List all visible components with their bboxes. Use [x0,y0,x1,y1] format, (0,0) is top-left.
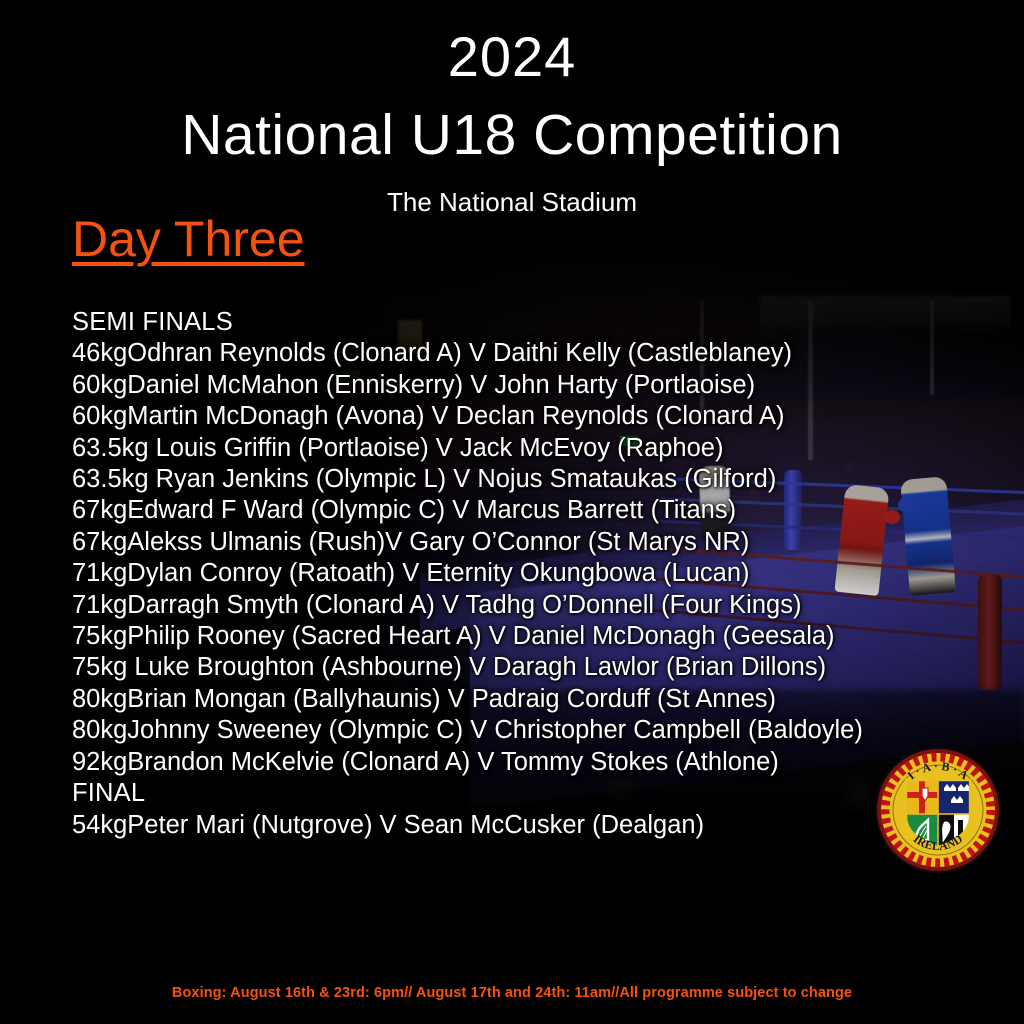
schedule-bout-row: 67kgAlekss Ulmanis (Rush)V Gary O’Connor… [72,527,972,558]
footer-note: Boxing: August 16th & 23rd: 6pm// August… [0,985,1024,1001]
schedule-bout-row: 63.5kg Ryan Jenkins (Olympic L) V Nojus … [72,464,972,495]
schedule-section-heading: SEMI FINALS [72,307,972,338]
schedule-bout-row: 63.5kg Louis Griffin (Portlaoise) V Jack… [72,433,972,464]
schedule-bout-row: 80kgBrian Mongan (Ballyhaunis) V Padraig… [72,684,972,715]
schedule-section-heading: FINAL [72,778,972,809]
schedule-bout-row: 92kgBrandon McKelvie (Clonard A) V Tommy… [72,747,972,778]
iaba-ireland-crest-logo: I · A · B · A IRELAND [874,746,1002,874]
poster-canvas: 2024 National U18 Competition The Nation… [0,0,1024,1024]
schedule-bout-row: 71kgDylan Conroy (Ratoath) V Eternity Ok… [72,558,972,589]
schedule-bout-row: 75kg Luke Broughton (Ashbourne) V Daragh… [72,652,972,683]
year-heading: 2024 [0,26,1024,89]
schedule-bout-row: 54kgPeter Mari (Nutgrove) V Sean McCuske… [72,810,972,841]
page-title: National U18 Competition [0,101,1024,169]
schedule-bout-row: 80kgJohnny Sweeney (Olympic C) V Christo… [72,715,972,746]
schedule-bout-row: 60kgMartin McDonagh (Avona) V Declan Rey… [72,401,972,432]
schedule-list: SEMI FINALS46kgOdhran Reynolds (Clonard … [72,307,972,841]
schedule-bout-row: 60kgDaniel McMahon (Enniskerry) V John H… [72,370,972,401]
schedule-bout-row: 67kgEdward F Ward (Olympic C) V Marcus B… [72,495,972,526]
schedule-bout-row: 46kgOdhran Reynolds (Clonard A) V Daithi… [72,338,972,369]
poster-content: 2024 National U18 Competition The Nation… [0,0,1024,1024]
schedule-bout-row: 71kgDarragh Smyth (Clonard A) V Tadhg O’… [72,590,972,621]
title-block: 2024 National U18 Competition The Nation… [0,0,1024,218]
day-heading: Day Three [72,212,305,267]
schedule-bout-row: 75kgPhilip Rooney (Sacred Heart A) V Dan… [72,621,972,652]
